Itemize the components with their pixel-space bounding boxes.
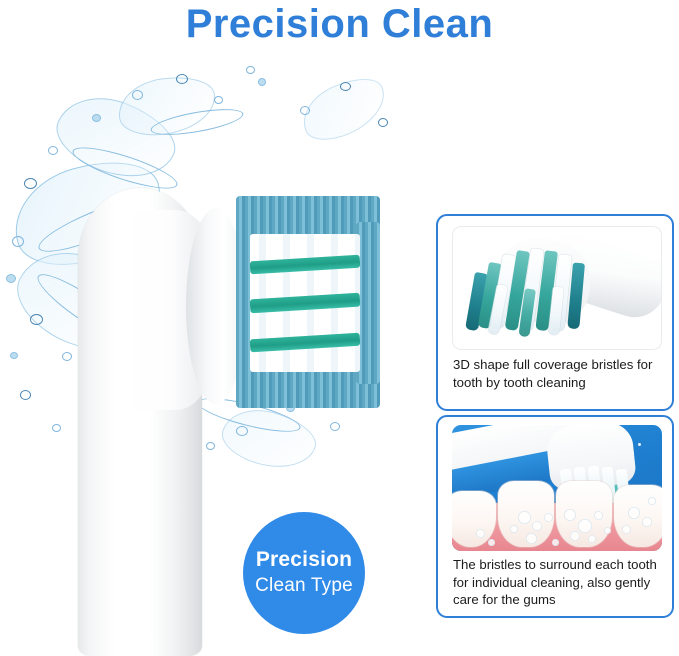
badge-subtitle: Clean Type [255, 575, 353, 597]
precision-clean-type-badge: Precision Clean Type [243, 512, 365, 634]
brush-head-bristles [236, 196, 380, 408]
feature-panel-3d-shape: 3D shape full coverage bristles for toot… [436, 214, 674, 411]
hero-product-illustration: Precision Clean Type [0, 60, 430, 656]
feature-caption-surround-bristles: The bristles to surround each tooth for … [453, 556, 662, 609]
brush-head-closeup-image [452, 226, 662, 350]
product-feature-image: Precision Clean [0, 0, 679, 656]
brushing-teeth-image [452, 425, 662, 551]
page-title: Precision Clean [0, 2, 679, 47]
feature-panel-surround-bristles: The bristles to surround each tooth for … [436, 415, 674, 618]
feature-caption-3d-shape: 3D shape full coverage bristles for toot… [453, 356, 662, 391]
badge-title: Precision [256, 548, 352, 573]
